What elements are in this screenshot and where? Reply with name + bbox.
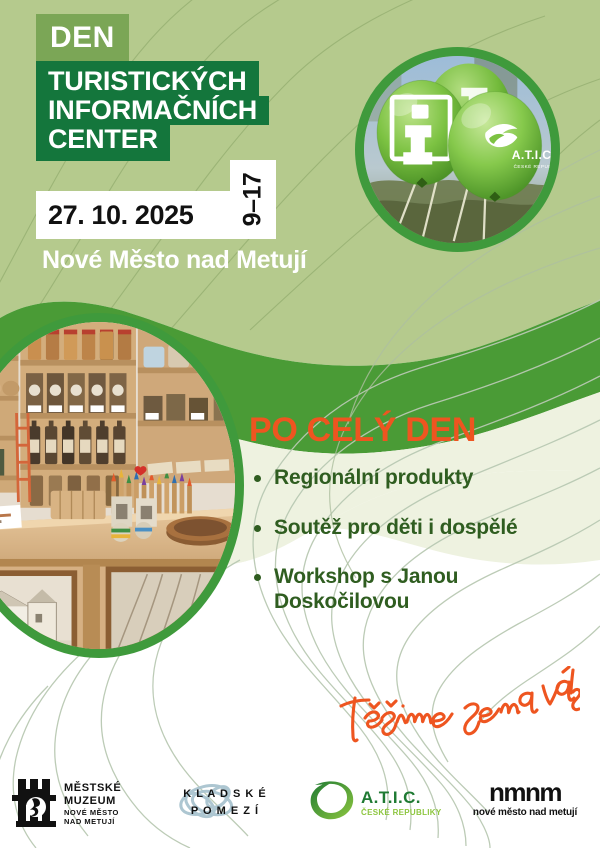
title-line-2: INFORMAČNÍCH bbox=[36, 96, 269, 125]
logo-atic: A.T.I.C. ČESKÉ REPUBLIKY bbox=[300, 773, 450, 831]
atic-logo-mark: A.T.I.C. ČESKÉ REPUBLIKY bbox=[305, 773, 445, 831]
kladske-line-1: K L A D S K É bbox=[183, 787, 267, 800]
museum-line-4: NAD METUJÍ bbox=[64, 817, 115, 826]
den-badge-wrap: DEN bbox=[36, 14, 336, 61]
list-item: Regionální produkty bbox=[252, 466, 592, 491]
logo-nmnm: nmnm nové město nad metují bbox=[450, 773, 600, 831]
header-title-block: DEN TURISTICKÝCH INFORMAČNÍCH CENTER bbox=[36, 14, 336, 161]
list-item: Workshop s Janou Doskočilovou bbox=[252, 565, 592, 614]
list-item: Soutěž pro děti i dospělé bbox=[252, 516, 592, 541]
museum-line-3: NOVÉ MĚSTO bbox=[64, 808, 119, 817]
title-line-3-wrap: CENTER bbox=[36, 125, 336, 161]
poster-root: DEN TURISTICKÝCH INFORMAČNÍCH CENTER 27.… bbox=[0, 0, 600, 848]
main-heading: PO CELÝ DEN bbox=[249, 411, 476, 450]
title-line-1-wrap: TURISTICKÝCH bbox=[36, 61, 336, 96]
museum-line-1: MĚSTSKÉ bbox=[64, 781, 121, 794]
kladske-pomezi-logo-mark: K L A D S K É P O M E Z Í bbox=[160, 773, 290, 831]
mestske-muzeum-logo-mark: MĚSTSKÉ MUZEUM NOVÉ MĚSTO NAD METUJÍ bbox=[10, 773, 140, 831]
balloon-photo-illustration: A.T.I.C ČESKÉ REPUBLIKY bbox=[364, 56, 551, 243]
script-note-handwriting: Těšíme se na vás! bbox=[335, 666, 580, 744]
title-line-2-wrap: INFORMAČNÍCH bbox=[36, 96, 336, 125]
kladske-line-2: P O M E Z Í bbox=[191, 804, 259, 817]
logo-kladske-pomezi: K L A D S K É P O M E Z Í bbox=[150, 773, 300, 831]
script-note: Těšíme se na vás! bbox=[335, 666, 580, 744]
title-line-3: CENTER bbox=[36, 125, 170, 161]
event-city: Nové Město nad Metují bbox=[42, 246, 307, 275]
opening-hours-box: 9–17 bbox=[230, 160, 276, 239]
program-list: Regionální produkty Soutěž pro děti i do… bbox=[252, 466, 592, 639]
event-date-strip: 27. 10. 2025 bbox=[36, 191, 255, 239]
svg-text:ČESKÉ REPUBLIKY: ČESKÉ REPUBLIKY bbox=[514, 163, 551, 169]
opening-hours: 9–17 bbox=[239, 173, 268, 227]
atic-line-2: ČESKÉ REPUBLIKY bbox=[361, 808, 442, 817]
shop-interior-illustration bbox=[0, 322, 235, 649]
title-line-1: TURISTICKÝCH bbox=[36, 61, 259, 96]
museum-line-2: MUZEUM bbox=[64, 795, 116, 807]
balloon-photo: A.T.I.C ČESKÉ REPUBLIKY bbox=[355, 47, 560, 252]
atic-line-1: A.T.I.C. bbox=[361, 788, 421, 807]
logo-mestske-muzeum: MĚSTSKÉ MUZEUM NOVÉ MĚSTO NAD METUJÍ bbox=[0, 773, 150, 831]
event-date: 27. 10. 2025 bbox=[36, 200, 193, 231]
footer-logos: MĚSTSKÉ MUZEUM NOVÉ MĚSTO NAD METUJÍ K L… bbox=[0, 756, 600, 848]
svg-text:A.T.I.C: A.T.I.C bbox=[512, 148, 551, 162]
nmnm-logo-mark: nmnm nové město nad metují bbox=[455, 773, 595, 831]
nmnm-wordmark: nmnm bbox=[489, 777, 561, 807]
den-badge: DEN bbox=[36, 14, 129, 61]
nmnm-subline: nové město nad metují bbox=[473, 807, 579, 818]
